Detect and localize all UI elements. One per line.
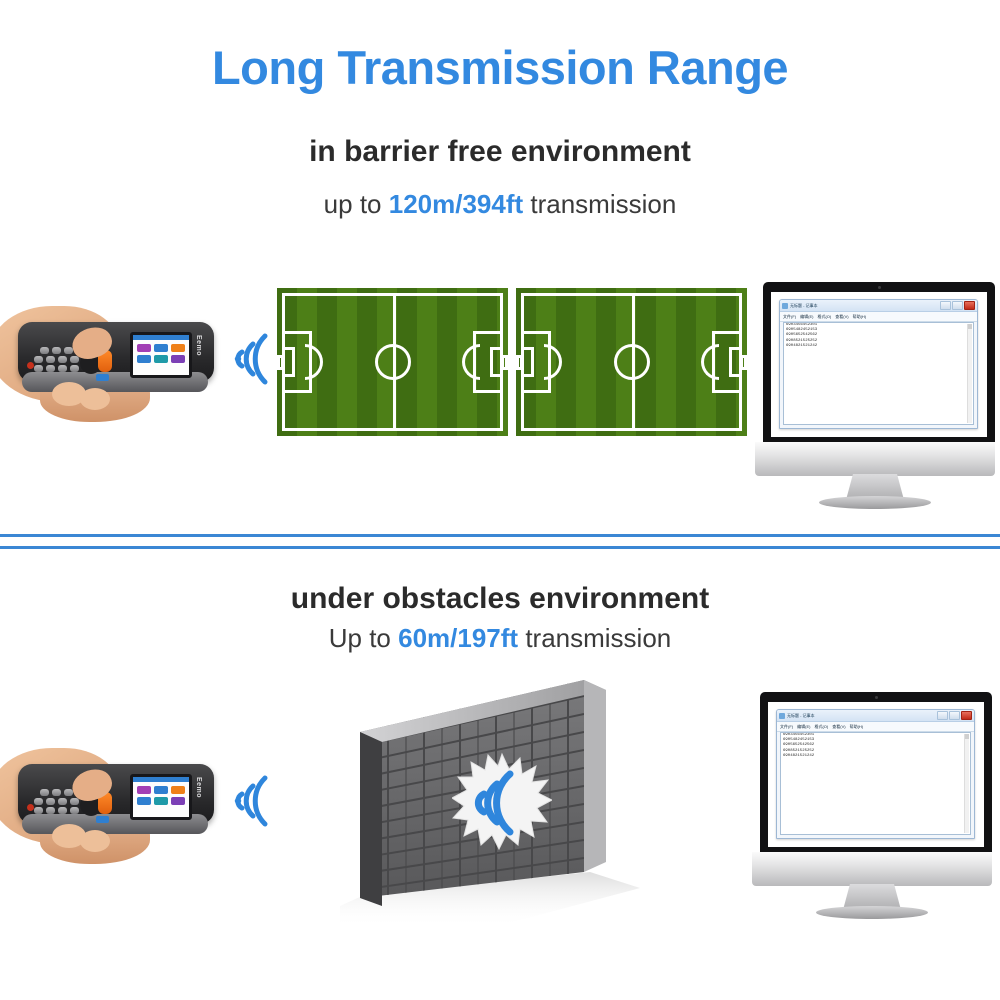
football-fields-graphic [277, 288, 747, 436]
app-icon[interactable] [137, 797, 151, 805]
app-icon[interactable] [137, 344, 151, 352]
keypad-key[interactable] [58, 807, 67, 814]
app-icon[interactable] [154, 355, 168, 363]
app-icon[interactable] [154, 797, 168, 805]
app-icon[interactable] [154, 344, 168, 352]
section-1-heading: in barrier free environment [0, 135, 1000, 169]
window-buttons [937, 711, 972, 720]
window-buttons [940, 301, 975, 310]
scanner-display [130, 332, 192, 378]
desktop-monitor-bottom: 无标题 - 记事本 文件(F) 编辑(E) 格式(O) 查看(V) 帮助(H) … [752, 692, 992, 907]
menu-item-view[interactable]: 查看(V) [835, 314, 848, 320]
menu-item-view[interactable]: 查看(V) [832, 724, 845, 730]
monitor-screen: 无标题 - 记事本 文件(F) 编辑(E) 格式(O) 查看(V) 帮助(H) … [768, 702, 984, 847]
menu-item-format[interactable]: 格式(O) [817, 314, 831, 320]
menu-item-edit[interactable]: 编辑(E) [800, 314, 813, 320]
notepad-titlebar[interactable]: 无标题 - 记事本 [777, 710, 974, 722]
notepad-app-icon [782, 303, 788, 309]
power-key[interactable] [27, 362, 34, 369]
keypad-key[interactable] [58, 356, 67, 363]
keypad-key[interactable] [58, 365, 67, 372]
handheld-scanner-bottom: Eemo [0, 742, 250, 882]
webcam-icon [875, 696, 878, 699]
keypad-key[interactable] [34, 356, 43, 363]
scan-data-line: 6904821521242 [784, 344, 973, 349]
goal-right [740, 355, 747, 370]
display-app-grid [133, 782, 189, 809]
section-2-heading: under obstacles environment [0, 582, 1000, 616]
notepad-text-area[interactable]: 6903456452301 6905482452153 690565254256… [780, 732, 971, 835]
keypad-key[interactable] [46, 365, 55, 372]
vertical-scrollbar[interactable] [967, 324, 972, 423]
keypad-key[interactable] [46, 356, 55, 363]
display-app-grid [133, 340, 189, 367]
menu-item-edit[interactable]: 编辑(E) [797, 724, 810, 730]
device-brand-label: Eemo [195, 777, 202, 798]
goal-left [277, 355, 284, 370]
app-icon[interactable] [137, 786, 151, 794]
notepad-title-text: 无标题 - 记事本 [787, 713, 815, 719]
app-icon[interactable] [154, 786, 168, 794]
section-2-subline: Up to 60m/197ft transmission [0, 623, 1000, 654]
notepad-window-bottom[interactable]: 无标题 - 记事本 文件(F) 编辑(E) 格式(O) 查看(V) 帮助(H) … [776, 709, 975, 839]
goal-left [516, 355, 523, 370]
notepad-menubar: 文件(F) 编辑(E) 格式(O) 查看(V) 帮助(H) [780, 312, 977, 322]
notepad-app-icon [779, 713, 785, 719]
keypad-key[interactable] [34, 798, 43, 805]
keypad-key[interactable] [34, 365, 43, 372]
minimize-button[interactable] [937, 711, 948, 720]
section-2-suffix: transmission [518, 623, 671, 653]
monitor-base [755, 442, 995, 476]
power-key[interactable] [27, 804, 34, 811]
keypad-key[interactable] [52, 789, 61, 796]
section-divider-line-top [0, 534, 1000, 537]
center-circle [614, 344, 650, 380]
infographic-canvas: Long Transmission Range in barrier free … [0, 0, 1000, 1000]
notepad-titlebar[interactable]: 无标题 - 记事本 [780, 300, 977, 312]
goal-right [501, 355, 508, 370]
close-button[interactable] [961, 711, 972, 720]
menu-item-file[interactable]: 文件(F) [780, 724, 793, 730]
app-icon[interactable] [171, 355, 185, 363]
keypad-key[interactable] [40, 347, 49, 354]
maximize-button[interactable] [949, 711, 960, 720]
maximize-button[interactable] [952, 301, 963, 310]
section-2-prefix: Up to [329, 623, 398, 653]
signal-waves-top-icon [234, 326, 278, 392]
notepad-text-area[interactable]: 6903456452301 6905482452153 690565254256… [783, 322, 974, 425]
webcam-icon [878, 286, 881, 289]
keypad-key[interactable] [70, 807, 79, 814]
keypad-key[interactable] [70, 365, 79, 372]
monitor-base [752, 852, 992, 886]
section-1-subline: up to 120m/394ft transmission [0, 189, 1000, 220]
app-icon[interactable] [137, 355, 151, 363]
menu-item-help[interactable]: 帮助(H) [853, 314, 867, 320]
keypad-key[interactable] [40, 789, 49, 796]
football-field [516, 288, 747, 436]
notepad-window-top[interactable]: 无标题 - 记事本 文件(F) 编辑(E) 格式(O) 查看(V) 帮助(H) … [779, 299, 978, 429]
device-brand-label: Eemo [195, 335, 202, 356]
desktop-monitor-top: 无标题 - 记事本 文件(F) 编辑(E) 格式(O) 查看(V) 帮助(H) … [755, 282, 995, 497]
center-circle [375, 344, 411, 380]
close-button[interactable] [964, 301, 975, 310]
notepad-title-text: 无标题 - 记事本 [790, 303, 818, 309]
page-title: Long Transmission Range [0, 40, 1000, 95]
section-1-prefix: up to [324, 189, 389, 219]
finger-graphic [80, 388, 110, 410]
notepad-menubar: 文件(F) 编辑(E) 格式(O) 查看(V) 帮助(H) [777, 722, 974, 732]
monitor-screen: 无标题 - 记事本 文件(F) 编辑(E) 格式(O) 查看(V) 帮助(H) … [771, 292, 987, 437]
function-key[interactable] [96, 816, 109, 823]
app-icon[interactable] [171, 797, 185, 805]
scanner-display [130, 774, 192, 820]
handheld-scanner-top: Eemo [0, 300, 250, 440]
keypad-key[interactable] [52, 347, 61, 354]
scan-data-line: 6904821521242 [781, 754, 970, 759]
football-field [277, 288, 508, 436]
minimize-button[interactable] [940, 301, 951, 310]
app-icon[interactable] [171, 786, 185, 794]
menu-item-help[interactable]: 帮助(H) [850, 724, 864, 730]
section-1-suffix: transmission [523, 189, 676, 219]
keypad-key[interactable] [46, 807, 55, 814]
section-1-distance: 120m/394ft [389, 189, 523, 219]
section-2-distance: 60m/197ft [398, 623, 518, 653]
vertical-scrollbar[interactable] [964, 734, 969, 833]
keypad-key[interactable] [46, 798, 55, 805]
menu-item-format[interactable]: 格式(O) [814, 724, 828, 730]
signal-waves-bottom-icon [234, 768, 278, 834]
app-icon[interactable] [171, 344, 185, 352]
signal-burst-through-wall-icon [452, 752, 552, 852]
keypad-key[interactable] [58, 798, 67, 805]
finger-graphic [80, 830, 110, 852]
section-divider-line-bottom [0, 546, 1000, 549]
menu-item-file[interactable]: 文件(F) [783, 314, 796, 320]
monitor-stand-foot [816, 906, 928, 919]
keypad-key[interactable] [34, 807, 43, 814]
function-key[interactable] [96, 374, 109, 381]
monitor-stand-foot [819, 496, 931, 509]
